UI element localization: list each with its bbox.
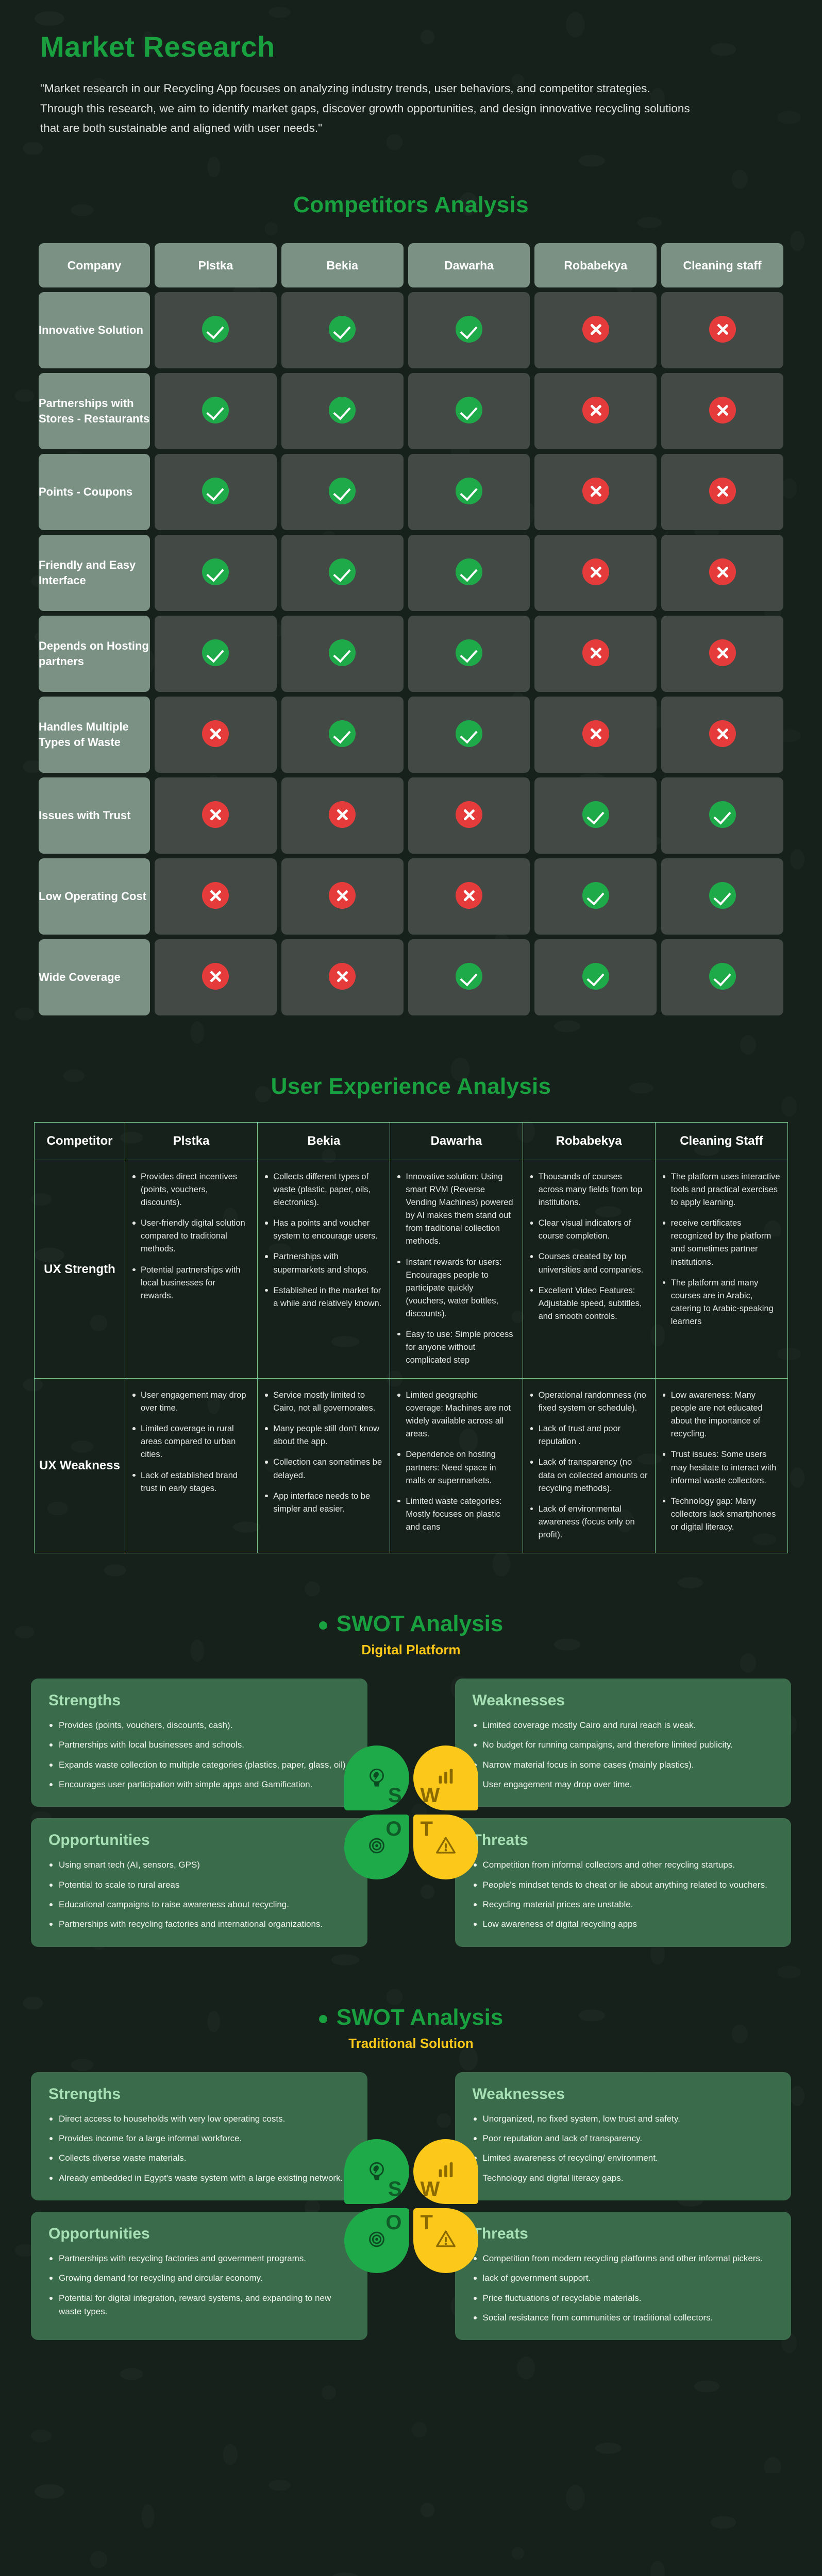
competitors-cell [534, 535, 657, 611]
table-row: Wide Coverage [39, 939, 783, 1015]
swot-bullet-list: Direct access to households with very lo… [48, 2112, 350, 2185]
swot-bullet-list: Competition from informal collectors and… [473, 1858, 774, 1931]
competitors-cell [408, 292, 530, 368]
competitors-header-row: CompanyPlstkaBekiaDawarhaRobabekyaCleani… [39, 243, 783, 287]
leaf-badge-icon [365, 2159, 389, 2185]
cross-circle-icon [202, 720, 229, 747]
list-item: Operational randomness (no fixed system … [530, 1389, 648, 1415]
list-item: receive certificates recognized by the p… [663, 1217, 780, 1268]
list-item: Provides direct incentives (points, vouc… [132, 1171, 250, 1209]
list-item: Price fluctuations of recyclable materia… [473, 2292, 774, 2305]
table-row: UX WeaknessUser engagement may drop over… [35, 1379, 788, 1553]
swot-panel-title: Threats [473, 2225, 774, 2243]
ux-cell: Service mostly limited to Cairo, not all… [258, 1379, 390, 1553]
ux-column-header: Dawarha [390, 1123, 523, 1160]
competitors-cell [155, 454, 277, 530]
check-circle-icon [456, 963, 482, 990]
competitors-row-label: Depends on Hosting partners [39, 616, 150, 692]
swot-subheading: Traditional Solution [0, 2036, 822, 2052]
swot-bullet-list: Using smart tech (AI, sensors, GPS)Poten… [48, 1858, 350, 1931]
swot-bullet-list: Limited coverage mostly Cairo and rural … [473, 1719, 774, 1791]
cross-circle-icon [709, 720, 736, 747]
check-circle-icon [456, 316, 482, 343]
check-circle-icon [329, 478, 356, 504]
swot-petal-cluster: SWOT [342, 1743, 480, 1882]
list-item: Lack of transparency (no data on collect… [530, 1456, 648, 1495]
swot-petal-cluster: SWOT [342, 2137, 480, 2275]
check-circle-icon [202, 639, 229, 666]
swot-panel-threats: ThreatsCompetition from modern recycling… [455, 2212, 792, 2340]
swot-panel-title: Weaknesses [473, 1692, 774, 1709]
list-item: The platform and many courses are in Ara… [663, 1277, 780, 1328]
ux-bullet-list: Provides direct incentives (points, vouc… [132, 1171, 250, 1302]
swot-panel-title: Threats [473, 1832, 774, 1849]
list-item: Easy to use: Simple process for anyone w… [397, 1328, 515, 1367]
swot-panel-title: Opportunities [48, 1832, 350, 1849]
ux-bullet-list: Innovative solution: Using smart RVM (Re… [397, 1171, 515, 1367]
ux-table-head: CompetitorPlstkaBekiaDawarhaRobabekyaCle… [35, 1123, 788, 1160]
cross-circle-icon [456, 801, 482, 828]
ux-table-body: UX StrengthProvides direct incentives (p… [35, 1160, 788, 1553]
swot-panel-strengths: StrengthsDirect access to households wit… [31, 2072, 367, 2200]
check-circle-icon [582, 801, 609, 828]
competitors-cell [408, 535, 530, 611]
list-item: Expands waste collection to multiple cat… [48, 1758, 350, 1772]
competitors-column-header: Dawarha [408, 243, 530, 287]
list-item: Competition from modern recycling platfo… [473, 2252, 774, 2265]
cross-circle-icon [582, 316, 609, 343]
list-item: Service mostly limited to Cairo, not all… [265, 1389, 382, 1415]
competitors-cell [661, 939, 783, 1015]
list-item: Limited coverage mostly Cairo and rural … [473, 1719, 774, 1732]
swot-panel-weaknesses: WeaknessesUnorganized, no fixed system, … [455, 2072, 792, 2200]
cross-circle-icon [329, 963, 356, 990]
competitors-cell [534, 939, 657, 1015]
list-item: App interface needs to be simpler and ea… [265, 1490, 382, 1516]
list-item: Limited geographic coverage: Machines ar… [397, 1389, 515, 1440]
alert-triangle-icon [434, 1834, 458, 1860]
swot-panel-title: Weaknesses [473, 2086, 774, 2103]
list-item: Trust issues: Some users may hesitate to… [663, 1448, 780, 1487]
competitors-table-body: Innovative SolutionPartnerships with Sto… [39, 292, 783, 1015]
check-circle-icon [456, 720, 482, 747]
competitors-row-label: Points - Coupons [39, 454, 150, 530]
ux-cell: Innovative solution: Using smart RVM (Re… [390, 1160, 523, 1379]
competitors-cell [408, 373, 530, 449]
cross-circle-icon [709, 478, 736, 504]
competitors-cell [281, 939, 404, 1015]
swot-panel-strengths: StrengthsProvides (points, vouchers, dis… [31, 1679, 367, 1807]
list-item: Growing demand for recycling and circula… [48, 2272, 350, 2285]
competitors-cell [281, 777, 404, 854]
list-item: Has a points and voucher system to encou… [265, 1217, 382, 1243]
competitors-row-label: Low Operating Cost [39, 858, 150, 935]
competitors-cell [408, 697, 530, 773]
swot-petal-s: S [342, 1743, 411, 1812]
list-item: Clear visual indicators of course comple… [530, 1217, 648, 1243]
competitors-cell [408, 454, 530, 530]
cross-circle-icon [329, 882, 356, 909]
list-item: Lack of trust and poor reputation . [530, 1422, 648, 1448]
competitors-cell [661, 616, 783, 692]
check-circle-icon [456, 639, 482, 666]
ux-column-header: Plstka [125, 1123, 258, 1160]
swot-petal-t: T [411, 1812, 480, 1882]
swot-bullet-list: Partnerships with recycling factories an… [48, 2252, 350, 2318]
cross-circle-icon [582, 558, 609, 585]
swot-panel-opportunities: OpportunitiesUsing smart tech (AI, senso… [31, 1818, 367, 1946]
ux-cell: Low awareness: Many people are not educa… [655, 1379, 787, 1553]
alert-triangle-icon [434, 2228, 458, 2254]
petal-letter: S [388, 2178, 402, 2201]
ux-cell: Collects different types of waste (plast… [258, 1160, 390, 1379]
check-circle-icon [202, 397, 229, 423]
list-item: Partnerships with recycling factories an… [48, 2252, 350, 2265]
swot-panel-opportunities: OpportunitiesPartnerships with recycling… [31, 2212, 367, 2340]
list-item: Potential partnerships with local busine… [132, 1264, 250, 1302]
competitors-cell [155, 858, 277, 935]
list-item: Technology and digital literacy gaps. [473, 2172, 774, 2185]
competitors-heading: Competitors Analysis [0, 192, 822, 218]
ux-bullet-list: User engagement may drop over time.Limit… [132, 1389, 250, 1495]
list-item: Provides (points, vouchers, discounts, c… [48, 1719, 350, 1732]
competitors-table-wrapper: CompanyPlstkaBekiaDawarhaRobabekyaCleani… [0, 218, 822, 1020]
check-circle-icon [709, 882, 736, 909]
competitors-cell [661, 777, 783, 854]
swot-heading: SWOT Analysis [337, 1611, 504, 1637]
competitors-column-header: Robabekya [534, 243, 657, 287]
competitors-column-header: Cleaning staff [661, 243, 783, 287]
bottom-spacer [0, 2340, 822, 2386]
swot-panel-title: Opportunities [48, 2225, 350, 2243]
competitors-cell [281, 535, 404, 611]
competitors-column-header: Bekia [281, 243, 404, 287]
list-item: Encourages user participation with simpl… [48, 1778, 350, 1791]
list-item: Limited coverage in rural areas compared… [132, 1422, 250, 1461]
list-item: Using smart tech (AI, sensors, GPS) [48, 1858, 350, 1872]
ux-cell: Operational randomness (no fixed system … [523, 1379, 655, 1553]
list-item: Limited awareness of recycling/ environm… [473, 2151, 774, 2165]
list-item: Innovative solution: Using smart RVM (Re… [397, 1171, 515, 1248]
ux-cell: Thousands of courses across many fields … [523, 1160, 655, 1379]
list-item: Dependence on hosting partners: Need spa… [397, 1448, 515, 1487]
list-item: People's mindset tends to cheat or lie a… [473, 1878, 774, 1892]
competitors-row-label: Issues with Trust [39, 777, 150, 854]
list-item: Many people still don't know about the a… [265, 1422, 382, 1448]
list-item: Instant rewards for users: Encourages pe… [397, 1256, 515, 1320]
check-circle-icon [709, 963, 736, 990]
competitors-cell [661, 454, 783, 530]
check-circle-icon [456, 558, 482, 585]
list-item: Technology gap: Many collectors lack sma… [663, 1495, 780, 1534]
list-item: Lack of established brand trust in early… [132, 1469, 250, 1495]
ux-header-row: CompetitorPlstkaBekiaDawarhaRobabekyaCle… [35, 1123, 788, 1160]
competitors-cell [661, 292, 783, 368]
cross-circle-icon [582, 397, 609, 423]
competitors-cell [281, 292, 404, 368]
list-item: Provides income for a large informal wor… [48, 2132, 350, 2145]
check-circle-icon [709, 801, 736, 828]
list-item: Social resistance from communities or tr… [473, 2311, 774, 2325]
list-item: Direct access to households with very lo… [48, 2112, 350, 2126]
petal-letter: W [421, 1784, 440, 1807]
ux-table-wrapper: CompetitorPlstkaBekiaDawarhaRobabekyaCle… [0, 1099, 822, 1553]
competitors-cell [534, 373, 657, 449]
cross-circle-icon [202, 882, 229, 909]
competitors-cell [661, 373, 783, 449]
ux-bullet-list: Low awareness: Many people are not educa… [663, 1389, 780, 1534]
cross-circle-icon [709, 639, 736, 666]
competitors-cell [408, 616, 530, 692]
swot-petal-o: O [342, 1812, 411, 1882]
list-item: Low awareness of digital recycling apps [473, 1918, 774, 1931]
ux-bullet-list: Limited geographic coverage: Machines ar… [397, 1389, 515, 1534]
list-item: Partnerships with recycling factories an… [48, 1918, 350, 1931]
page-title: Market Research [0, 0, 822, 63]
competitors-cell [155, 292, 277, 368]
petal-letter: S [388, 1784, 402, 1807]
list-item: User engagement may drop over time. [132, 1389, 250, 1415]
table-row: Innovative Solution [39, 292, 783, 368]
cross-circle-icon [709, 558, 736, 585]
check-circle-icon [582, 882, 609, 909]
table-row: Depends on Hosting partners [39, 616, 783, 692]
list-item: Collects diverse waste materials. [48, 2151, 350, 2165]
swot-bullet-list: Provides (points, vouchers, discounts, c… [48, 1719, 350, 1791]
competitors-row-label: Friendly and Easy Interface [39, 535, 150, 611]
ux-row-label: UX Weakness [35, 1379, 125, 1553]
list-item: Narrow material focus in some cases (mai… [473, 1758, 774, 1772]
list-item: User engagement may drop over time. [473, 1778, 774, 1791]
list-item: Already embedded in Egypt's waste system… [48, 2172, 350, 2185]
list-item: Potential to scale to rural areas [48, 1878, 350, 1892]
competitors-cell [534, 616, 657, 692]
cross-circle-icon [456, 882, 482, 909]
petal-letter: O [385, 2211, 401, 2234]
list-item: Limited waste categories: Mostly focuses… [397, 1495, 515, 1534]
competitors-row-label: Wide Coverage [39, 939, 150, 1015]
list-item: Established in the market for a while an… [265, 1284, 382, 1310]
swot-petal-o: O [342, 2206, 411, 2275]
market-research-page: Market Research "Market research in our … [0, 0, 822, 2386]
check-circle-icon [202, 558, 229, 585]
check-circle-icon [582, 963, 609, 990]
list-item: Unorganized, no fixed system, low trust … [473, 2112, 774, 2126]
check-circle-icon [202, 478, 229, 504]
table-row: UX StrengthProvides direct incentives (p… [35, 1160, 788, 1379]
competitors-cell [281, 697, 404, 773]
list-item: No budget for running campaigns, and the… [473, 1738, 774, 1752]
cross-circle-icon [202, 963, 229, 990]
list-item: Competition from informal collectors and… [473, 1858, 774, 1872]
bullet-dot-icon [319, 2015, 327, 2023]
list-item: Excellent Video Features: Adjustable spe… [530, 1284, 648, 1323]
list-item: lack of government support. [473, 2272, 774, 2285]
competitors-cell [155, 373, 277, 449]
ux-heading: User Experience Analysis [0, 1074, 822, 1099]
competitors-table: CompanyPlstkaBekiaDawarhaRobabekyaCleani… [34, 239, 788, 1020]
swot-sections: SWOT AnalysisDigital PlatformStrengthsPr… [0, 1611, 822, 2341]
table-row: Handles Multiple Types of Waste [39, 697, 783, 773]
ux-table: CompetitorPlstkaBekiaDawarhaRobabekyaCle… [34, 1122, 788, 1553]
check-circle-icon [329, 558, 356, 585]
competitors-cell [534, 858, 657, 935]
list-item: Thousands of courses across many fields … [530, 1171, 648, 1209]
competitors-cell [281, 373, 404, 449]
competitors-cell [534, 697, 657, 773]
cross-circle-icon [709, 397, 736, 423]
check-circle-icon [456, 397, 482, 423]
cross-circle-icon [709, 316, 736, 343]
check-circle-icon [329, 397, 356, 423]
ux-bullet-list: Operational randomness (no fixed system … [530, 1389, 648, 1541]
swot-petal-t: T [411, 2206, 480, 2275]
list-item: Lack of environmental awareness (focus o… [530, 1503, 648, 1541]
check-circle-icon [329, 639, 356, 666]
list-item: Educational campaigns to raise awareness… [48, 1898, 350, 1911]
competitors-cell [281, 858, 404, 935]
ux-row-label: UX Strength [35, 1160, 125, 1379]
competitors-cell [408, 858, 530, 935]
bullet-dot-icon [319, 1621, 327, 1630]
swot-grid: StrengthsDirect access to households wit… [31, 2072, 791, 2341]
ux-bullet-list: Collects different types of waste (plast… [265, 1171, 382, 1310]
swot-subheading: Digital Platform [0, 1642, 822, 1658]
ux-cell: Limited geographic coverage: Machines ar… [390, 1379, 523, 1553]
list-item: Courses created by top universities and … [530, 1250, 648, 1276]
competitors-cell [661, 535, 783, 611]
competitors-cell [155, 535, 277, 611]
ux-bullet-list: The platform uses interactive tools and … [663, 1171, 780, 1328]
cross-circle-icon [329, 801, 356, 828]
petal-letter: T [421, 1818, 433, 1841]
competitors-cell [281, 616, 404, 692]
check-circle-icon [329, 720, 356, 747]
competitors-row-label: Innovative Solution [39, 292, 150, 368]
swot-bullet-list: Competition from modern recycling platfo… [473, 2252, 774, 2325]
ux-cell: Provides direct incentives (points, vouc… [125, 1160, 258, 1379]
competitors-cell [661, 858, 783, 935]
intro-paragraph: "Market research in our Recycling App fo… [0, 63, 752, 139]
leaf-badge-icon [365, 1765, 389, 1791]
cross-circle-icon [582, 720, 609, 747]
competitors-cell [408, 777, 530, 854]
swot-panel-title: Strengths [48, 1692, 350, 1709]
list-item: User-friendly digital solution compared … [132, 1217, 250, 1256]
target-icon [365, 2228, 389, 2254]
competitors-cell [281, 454, 404, 530]
table-row: Low Operating Cost [39, 858, 783, 935]
competitors-column-header: Company [39, 243, 150, 287]
cross-circle-icon [582, 478, 609, 504]
table-row: Partnerships with Stores - Restaurants [39, 373, 783, 449]
swot-panel-title: Strengths [48, 2086, 350, 2103]
ux-column-header: Competitor [35, 1123, 125, 1160]
competitors-cell [155, 939, 277, 1015]
petal-letter: W [421, 2178, 440, 2201]
ux-cell: User engagement may drop over time.Limit… [125, 1379, 258, 1553]
swot-panel-threats: ThreatsCompetition from informal collect… [455, 1818, 792, 1946]
list-item: Low awareness: Many people are not educa… [663, 1389, 780, 1440]
ux-bullet-list: Thousands of courses across many fields … [530, 1171, 648, 1323]
competitors-cell [534, 454, 657, 530]
competitors-table-head: CompanyPlstkaBekiaDawarhaRobabekyaCleani… [39, 243, 783, 287]
swot-petal-s: S [342, 2137, 411, 2206]
competitors-cell [534, 777, 657, 854]
list-item: Partnerships with supermarkets and shops… [265, 1250, 382, 1276]
list-item: Partnerships with local businesses and s… [48, 1738, 350, 1752]
swot-grid: StrengthsProvides (points, vouchers, dis… [31, 1679, 791, 1947]
list-item: Poor reputation and lack of transparency… [473, 2132, 774, 2145]
ux-cell: The platform uses interactive tools and … [655, 1160, 787, 1379]
list-item: Collects different types of waste (plast… [265, 1171, 382, 1209]
competitors-cell [661, 697, 783, 773]
swot-bullet-list: Unorganized, no fixed system, low trust … [473, 2112, 774, 2185]
cross-circle-icon [202, 801, 229, 828]
swot-panel-weaknesses: WeaknessesLimited coverage mostly Cairo … [455, 1679, 792, 1807]
swot-title-row: SWOT Analysis [0, 1611, 822, 1637]
check-circle-icon [329, 316, 356, 343]
competitors-cell [155, 697, 277, 773]
table-row: Friendly and Easy Interface [39, 535, 783, 611]
swot-heading: SWOT Analysis [337, 2005, 504, 2030]
ux-column-header: Robabekya [523, 1123, 655, 1160]
swot-title-row: SWOT Analysis [0, 2005, 822, 2030]
check-circle-icon [456, 478, 482, 504]
ux-column-header: Cleaning Staff [655, 1123, 787, 1160]
competitors-cell [155, 777, 277, 854]
target-icon [365, 1834, 389, 1860]
competitors-column-header: Plstka [155, 243, 277, 287]
competitors-cell [155, 616, 277, 692]
ux-column-header: Bekia [258, 1123, 390, 1160]
competitors-row-label: Handles Multiple Types of Waste [39, 697, 150, 773]
list-item: Collection can sometimes be delayed. [265, 1456, 382, 1482]
list-item: The platform uses interactive tools and … [663, 1171, 780, 1209]
ux-bullet-list: Service mostly limited to Cairo, not all… [265, 1389, 382, 1516]
table-row: Points - Coupons [39, 454, 783, 530]
competitors-row-label: Partnerships with Stores - Restaurants [39, 373, 150, 449]
competitors-cell [408, 939, 530, 1015]
list-item: Recycling material prices are unstable. [473, 1898, 774, 1911]
competitors-cell [534, 292, 657, 368]
check-circle-icon [202, 316, 229, 343]
cross-circle-icon [582, 639, 609, 666]
swot-petal-w: W [411, 1743, 480, 1812]
petal-letter: T [421, 2211, 433, 2234]
list-item: Potential for digital integration, rewar… [48, 2292, 350, 2319]
petal-letter: O [385, 1818, 401, 1841]
swot-petal-w: W [411, 2137, 480, 2206]
table-row: Issues with Trust [39, 777, 783, 854]
